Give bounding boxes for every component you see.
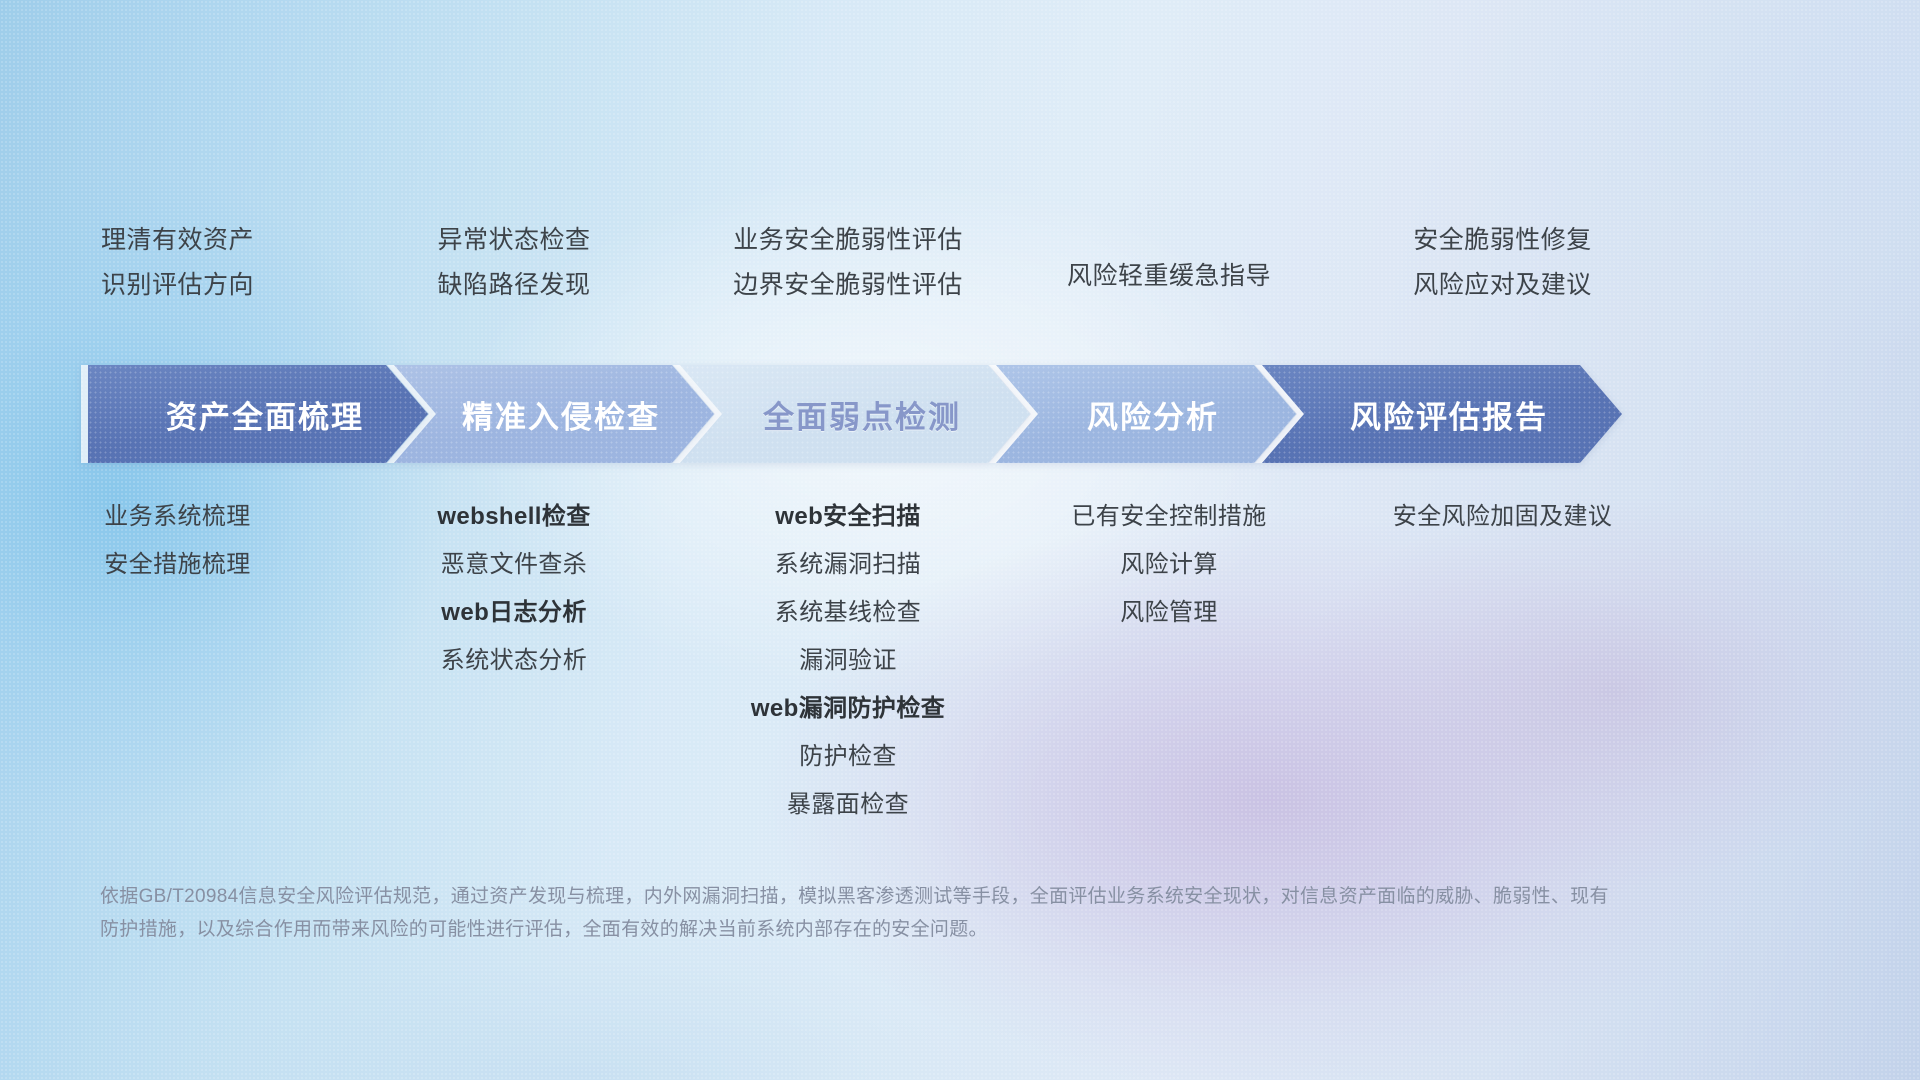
detail-item: web漏洞防护检查: [751, 697, 945, 721]
detail-item: 业务系统梳理: [104, 505, 250, 529]
detail-list-risk-analysis: 已有安全控制措施风险计算风险管理: [1023, 505, 1315, 625]
detail-list-intrusion-check: webshell检查恶意文件查杀web日志分析系统状态分析: [355, 505, 673, 673]
detail-item: 系统基线检查: [775, 601, 921, 625]
top-label: 安全脆弱性修复: [1413, 228, 1592, 253]
chevron-title: 全面弱点检测: [749, 392, 961, 437]
chevron-title: 资产全面梳理: [152, 392, 364, 437]
detail-item: 风险计算: [1120, 553, 1218, 577]
detail-item: 系统状态分析: [441, 649, 587, 673]
detail-item: web安全扫描: [775, 505, 920, 529]
chevron-title: 风险分析: [1073, 392, 1219, 437]
top-label: 业务安全脆弱性评估: [733, 228, 963, 253]
detail-item: 漏洞验证: [799, 649, 897, 673]
top-label: 边界安全脆弱性评估: [733, 273, 963, 298]
top-label: 缺陷路径发现: [437, 273, 590, 298]
detail-item: 风险管理: [1120, 601, 1218, 625]
chevron-stage-asset-inventory[interactable]: 资产全面梳理: [88, 365, 428, 463]
top-labels-risk-report: 安全脆弱性修复风险应对及建议: [1315, 228, 1690, 298]
detail-list-weakness-detection: web安全扫描系统漏洞扫描系统基线检查漏洞验证web漏洞防护检查防护检查暴露面检…: [673, 505, 1023, 817]
top-labels-weakness-detection: 业务安全脆弱性评估边界安全脆弱性评估: [673, 228, 1023, 298]
detail-item: 暴露面检查: [787, 793, 909, 817]
footer-description: 依据GB/T20984信息安全风险评估规范，通过资产发现与梳理，内外网漏洞扫描，…: [100, 880, 1620, 947]
detail-item: 安全风险加固及建议: [1393, 505, 1613, 529]
top-labels-intrusion-check: 异常状态检查缺陷路径发现: [355, 228, 673, 298]
stage-detail-lists-row: 业务系统梳理安全措施梳理webshell检查恶意文件查杀web日志分析系统状态分…: [0, 505, 1920, 817]
detail-list-risk-report: 安全风险加固及建议: [1315, 505, 1690, 529]
process-diagram: 理清有效资产识别评估方向异常状态检查缺陷路径发现业务安全脆弱性评估边界安全脆弱性…: [0, 0, 1920, 1080]
stage-top-labels-row: 理清有效资产识别评估方向异常状态检查缺陷路径发现业务安全脆弱性评估边界安全脆弱性…: [0, 228, 1920, 298]
detail-item: webshell检查: [437, 505, 590, 529]
detail-item: 安全措施梳理: [104, 553, 250, 577]
top-labels-risk-analysis: 风险轻重缓急指导: [1023, 228, 1315, 298]
chevron-stage-risk-report[interactable]: 风险评估报告: [1262, 365, 1622, 463]
chevron-stage-weakness-detection[interactable]: 全面弱点检测: [680, 365, 1030, 463]
detail-item: 已有安全控制措施: [1071, 505, 1266, 529]
detail-item: 恶意文件查杀: [441, 553, 587, 577]
chevron-stage-intrusion-check[interactable]: 精准入侵检查: [394, 365, 714, 463]
top-label: 理清有效资产: [101, 228, 254, 253]
chevron-title: 风险评估报告: [1336, 392, 1548, 437]
chevron-stage-risk-analysis[interactable]: 风险分析: [996, 365, 1296, 463]
top-label: 风险轻重缓急指导: [1067, 264, 1271, 289]
process-chevron-band: 资产全面梳理精准入侵检查全面弱点检测风险分析风险评估报告: [88, 365, 1898, 463]
top-label: 异常状态检查: [437, 228, 590, 253]
top-label: 风险应对及建议: [1413, 273, 1592, 298]
detail-item: web日志分析: [441, 601, 586, 625]
chevron-title: 精准入侵检查: [448, 392, 660, 437]
detail-item: 系统漏洞扫描: [775, 553, 921, 577]
detail-item: 防护检查: [799, 745, 897, 769]
detail-list-asset-inventory: 业务系统梳理安全措施梳理: [0, 505, 355, 577]
top-label: 识别评估方向: [101, 273, 254, 298]
top-labels-asset-inventory: 理清有效资产识别评估方向: [0, 228, 355, 298]
